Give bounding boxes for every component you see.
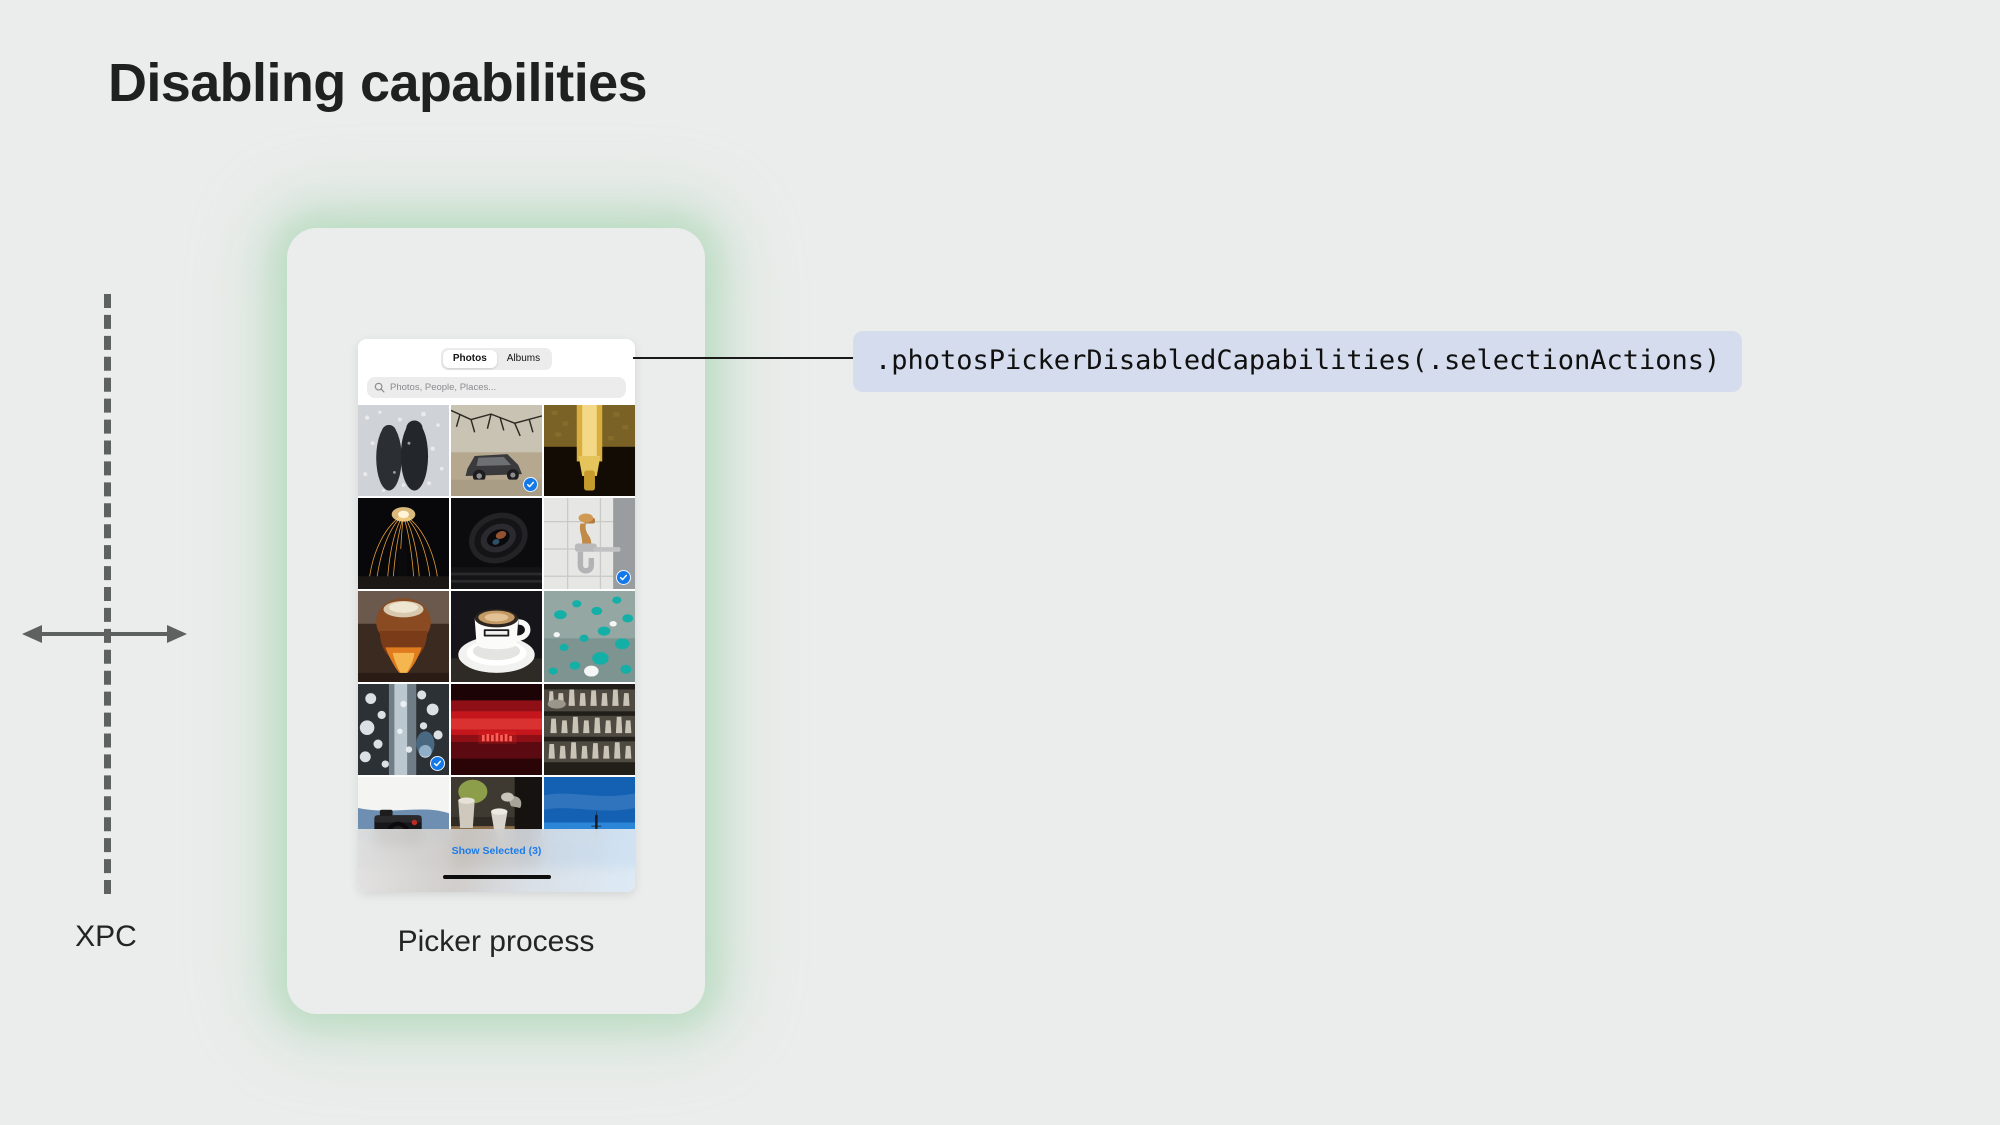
code-callout-label: .photosPickerDisabledCapabilities(.selec… xyxy=(853,331,1742,392)
callout-connector-line xyxy=(633,357,857,359)
photo-cell[interactable] xyxy=(358,684,449,775)
photo-cell[interactable] xyxy=(358,405,449,496)
photo-thumbnail xyxy=(358,591,449,682)
photo-thumbnail xyxy=(451,498,542,589)
checkmark-icon xyxy=(619,573,628,582)
photo-cell[interactable] xyxy=(451,591,542,682)
tab-photos[interactable]: Photos xyxy=(443,350,497,368)
xpc-double-arrow-icon xyxy=(22,623,187,645)
photo-cell[interactable] xyxy=(451,405,542,496)
photo-thumbnail xyxy=(358,498,449,589)
search-input[interactable]: Photos, People, Places... xyxy=(367,377,626,398)
picker-process-label: Picker process xyxy=(287,925,705,959)
photo-cell[interactable] xyxy=(544,405,635,496)
photo-selected-badge[interactable] xyxy=(430,756,445,771)
xpc-dashed-divider xyxy=(104,294,111,894)
photo-cell[interactable] xyxy=(544,591,635,682)
photo-cell[interactable] xyxy=(451,498,542,589)
show-selected-button[interactable]: Show Selected (3) xyxy=(452,845,542,857)
checkmark-icon xyxy=(526,480,535,489)
checkmark-icon xyxy=(433,759,442,768)
segmented-control[interactable]: Photos Albums xyxy=(441,348,552,370)
picker-bottom-toolbar: Show Selected (3) xyxy=(358,829,635,892)
picker-nav-bar: Photos Albums xyxy=(358,339,635,375)
home-indicator xyxy=(443,875,551,879)
photo-cell[interactable] xyxy=(451,684,542,775)
photo-grid[interactable] xyxy=(358,405,635,868)
photo-thumbnail xyxy=(451,684,542,775)
search-icon xyxy=(374,382,385,393)
photo-thumbnail xyxy=(451,591,542,682)
photo-cell[interactable] xyxy=(358,591,449,682)
photo-thumbnail xyxy=(358,405,449,496)
photo-thumbnail xyxy=(544,684,635,775)
search-bar-container: Photos, People, Places... xyxy=(358,375,635,405)
search-placeholder-text: Photos, People, Places... xyxy=(390,382,496,393)
photo-selected-badge[interactable] xyxy=(616,570,631,585)
photo-thumbnail xyxy=(544,591,635,682)
photo-cell[interactable] xyxy=(358,498,449,589)
photo-selected-badge[interactable] xyxy=(523,477,538,492)
xpc-boundary-group: XPC xyxy=(0,0,300,1000)
photo-cell[interactable] xyxy=(544,684,635,775)
photo-thumbnail xyxy=(544,405,635,496)
photo-cell[interactable] xyxy=(544,498,635,589)
tab-albums[interactable]: Albums xyxy=(497,350,550,368)
xpc-label: XPC xyxy=(0,920,212,954)
photos-picker-screen[interactable]: Photos Albums Photos, People, Places... xyxy=(358,339,635,892)
